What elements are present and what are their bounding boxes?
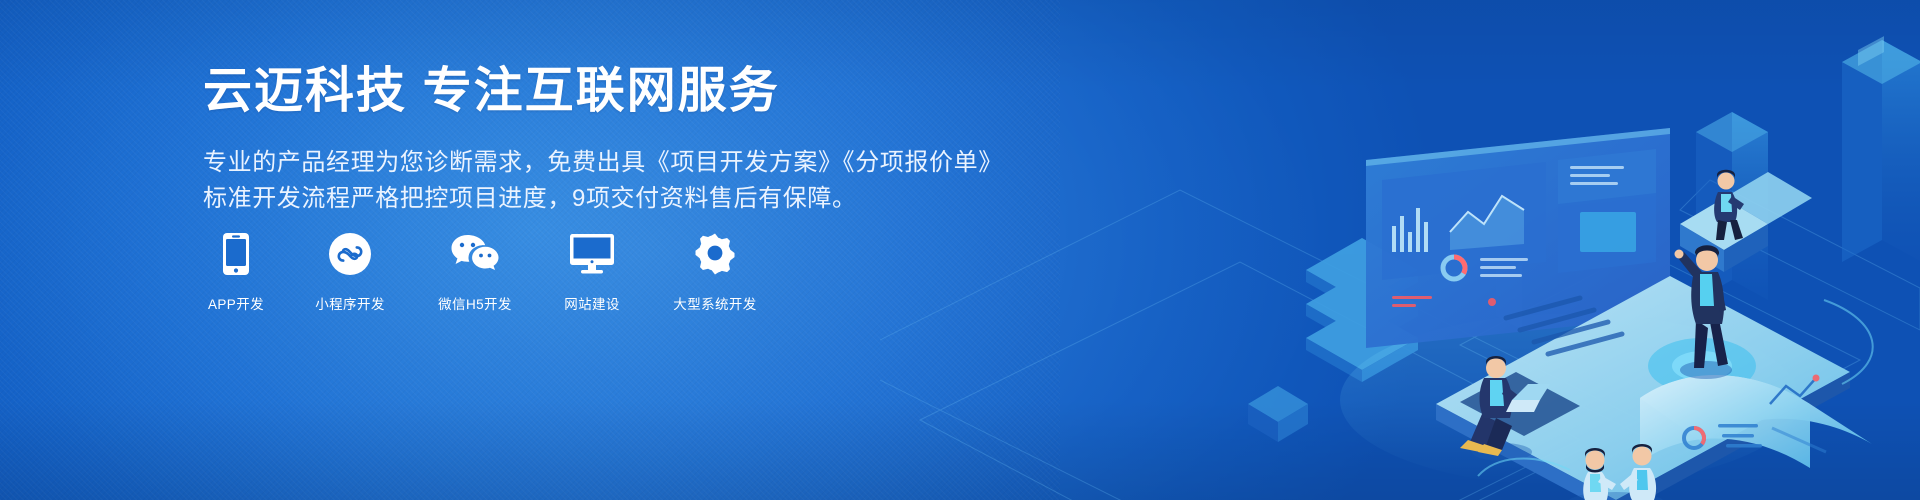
subtitle-line-2: 标准开发流程严格把控项目进度，9项交付资料售后有保障。 <box>203 181 903 217</box>
subtitle-line-1: 专业的产品经理为您诊断需求，免费出具《项目开发方案》《分项报价单》 <box>203 149 1003 176</box>
service-label: 小程序开发 <box>315 293 385 313</box>
service-label: 网站建设 <box>564 293 620 313</box>
mobile-phone-icon <box>223 232 249 276</box>
service-item-website[interactable]: 网站建设 <box>557 232 627 313</box>
service-item-wechat-h5[interactable]: 微信H5开发 <box>433 232 517 313</box>
mini-program-icon <box>329 232 371 276</box>
hero-copy: 云迈科技 专注互联网服务 专业的产品经理为您诊断需求，免费出具《项目开发方案》《… <box>203 66 903 217</box>
service-label: APP开发 <box>208 293 264 313</box>
service-item-large-system[interactable]: 大型系统开发 <box>667 232 763 313</box>
service-label: 微信H5开发 <box>438 293 512 313</box>
hero-subtitle: 专业的产品经理为您诊断需求，免费出具《项目开发方案》《分项报价单》 标准开发流程… <box>203 145 903 217</box>
service-label: 大型系统开发 <box>673 293 756 313</box>
hero-banner: 云迈科技 专注互联网服务 专业的产品经理为您诊断需求，免费出具《项目开发方案》《… <box>0 0 1920 500</box>
wechat-icon <box>450 232 500 276</box>
service-item-app[interactable]: APP开发 <box>205 232 267 313</box>
service-item-mini-program[interactable]: 小程序开发 <box>307 232 393 313</box>
page-title: 云迈科技 专注互联网服务 <box>203 66 903 117</box>
gear-icon <box>694 232 736 276</box>
monitor-icon <box>570 232 614 276</box>
isometric-data-platform-illustration <box>880 0 1920 500</box>
service-list: APP开发 小程序开发 <box>205 232 763 313</box>
